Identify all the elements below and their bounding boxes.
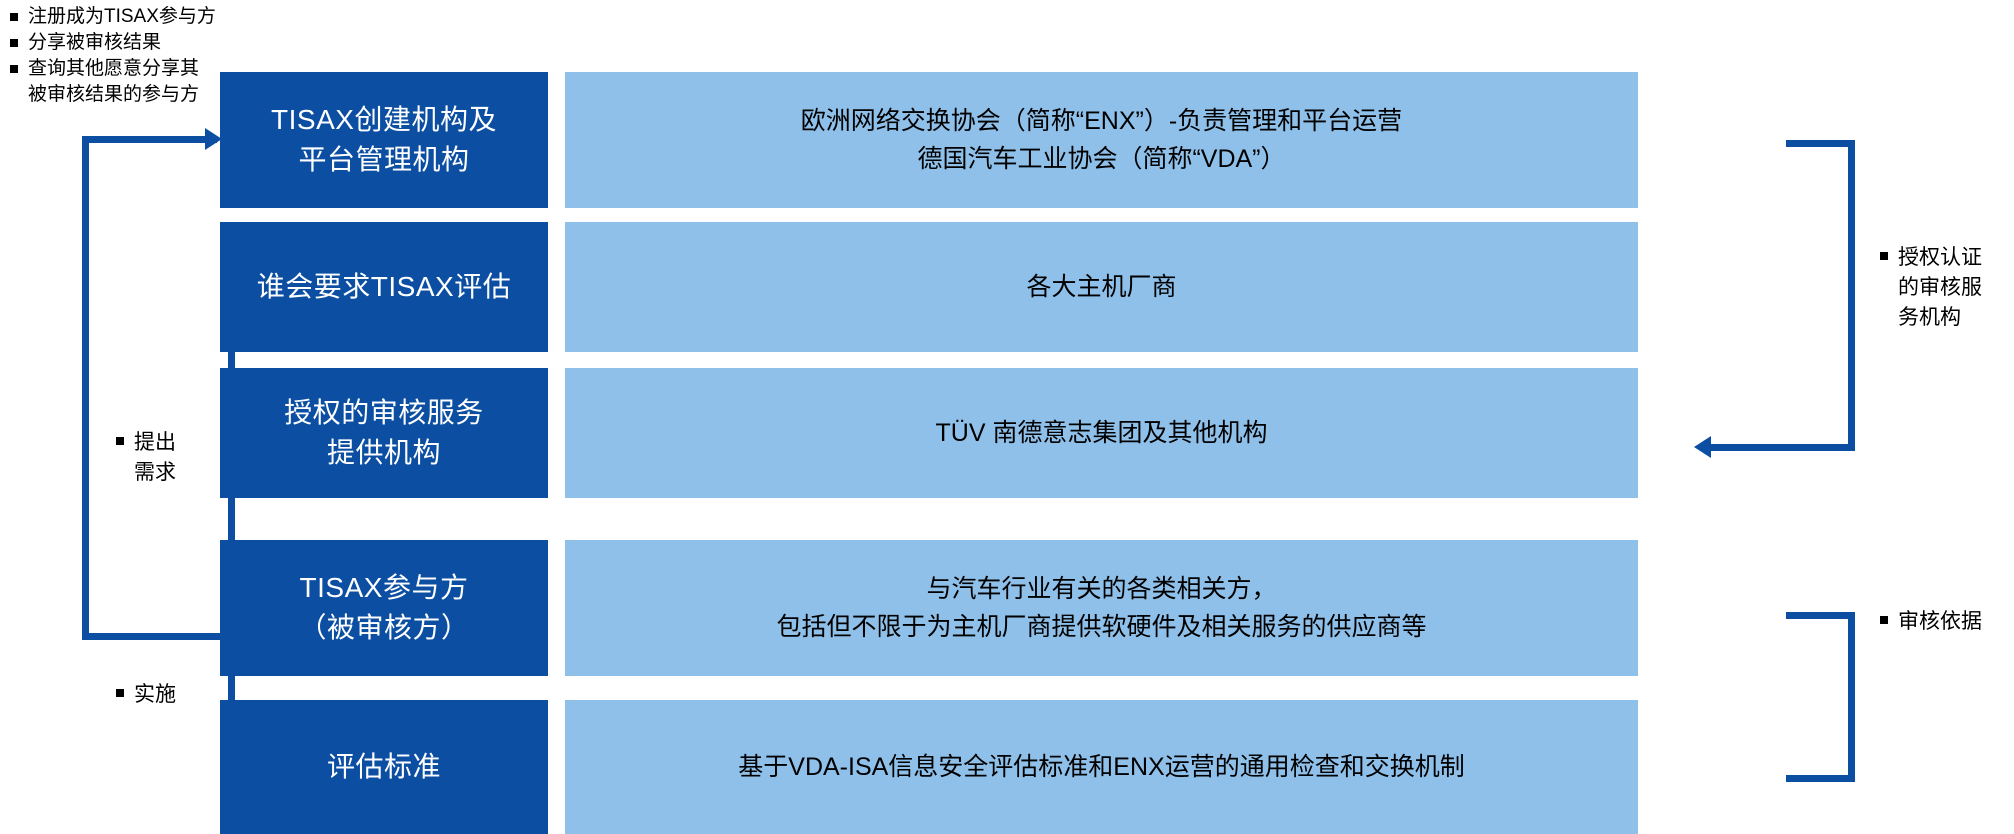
annotation-label: 实施 (134, 680, 176, 710)
list-item: 分享被审核结果 (10, 30, 220, 56)
row-4-label-box[interactable]: TISAX参与方 （被审核方） (220, 540, 548, 676)
list-item: 注册成为TISAX参与方 (10, 4, 220, 30)
bullet-square-icon (1880, 243, 1898, 260)
bullet-square-icon (10, 30, 28, 47)
list-item: 查询其他愿意分享其 被审核结果的参与方 (10, 56, 220, 108)
row-1-content-text: 欧洲网络交换协会（简称“ENX”）-负责管理和平台运营 德国汽车工业协会（简称“… (801, 102, 1402, 178)
bullet-label: 注册成为TISAX参与方 (28, 4, 216, 30)
list-item: 审核依据 (1880, 607, 2010, 637)
row-1-label-box[interactable]: TISAX创建机构及 平台管理机构 (220, 72, 548, 208)
bullet-square-icon (1880, 607, 1898, 624)
connector-outer-left-top-horizontal (82, 136, 217, 143)
connector-right-lower-top-horizontal (1786, 612, 1855, 619)
row-3-content-text: TÜV 南德意志集团及其他机构 (936, 414, 1268, 452)
row-2-label-box[interactable]: 谁会要求TISAX评估 (220, 222, 548, 352)
row-2-label-text: 谁会要求TISAX评估 (257, 267, 511, 307)
left-annotation-implement: 实施 (116, 680, 226, 710)
row-2-content-box[interactable]: 各大主机厂商 (565, 222, 1638, 352)
row-5-label-text: 评估标准 (327, 747, 441, 787)
bullet-square-icon (116, 428, 134, 445)
bullet-square-icon (10, 4, 28, 21)
bullet-square-icon (116, 680, 134, 697)
bullet-label: 分享被审核结果 (28, 30, 161, 56)
row-1-content-box[interactable]: 欧洲网络交换协会（简称“ENX”）-负责管理和平台运营 德国汽车工业协会（简称“… (565, 72, 1638, 208)
list-item: 提出 需求 (116, 428, 226, 488)
row-4-label-text: TISAX参与方 （被审核方） (298, 568, 469, 648)
arrow-into-row-3 (1694, 436, 1711, 458)
connector-outer-left-bottom-horizontal (82, 633, 228, 640)
annotation-label: 授权认证 的审核服 务机构 (1898, 243, 1982, 333)
row-3-content-box[interactable]: TÜV 南德意志集团及其他机构 (565, 368, 1638, 498)
row-4-content-text: 与汽车行业有关的各类相关方， 包括但不限于为主机厂商提供软硬件及相关服务的供应商… (776, 570, 1426, 646)
list-item: 授权认证 的审核服 务机构 (1880, 243, 2010, 333)
row-5-label-box[interactable]: 评估标准 (220, 700, 548, 834)
left-annotation-demand: 提出 需求 (116, 428, 226, 488)
diagram-canvas: 注册成为TISAX参与方 分享被审核结果 查询其他愿意分享其 被审核结果的参与方… (0, 0, 2014, 834)
connector-right-lower-vertical (1848, 612, 1855, 782)
connector-right-top-horizontal (1786, 140, 1855, 147)
row-5-content-text: 基于VDA-ISA信息安全评估标准和ENX运营的通用检查和交换机制 (738, 748, 1464, 786)
right-annotation-auditor: 授权认证 的审核服 务机构 (1880, 243, 2010, 333)
right-annotation-criteria: 审核依据 (1880, 607, 2010, 637)
row-2-content-text: 各大主机厂商 (1026, 268, 1176, 306)
bullet-label: 查询其他愿意分享其 被审核结果的参与方 (28, 56, 199, 108)
row-4-content-box[interactable]: 与汽车行业有关的各类相关方， 包括但不限于为主机厂商提供软硬件及相关服务的供应商… (565, 540, 1638, 676)
annotation-label: 提出 需求 (134, 428, 176, 488)
connector-right-vertical (1848, 140, 1855, 450)
top-left-bullet-list: 注册成为TISAX参与方 分享被审核结果 查询其他愿意分享其 被审核结果的参与方 (10, 4, 220, 108)
connector-right-lower-bottom-horizontal (1786, 775, 1855, 782)
row-3-label-box[interactable]: 授权的审核服务 提供机构 (220, 368, 548, 498)
connector-outer-left-vertical (82, 136, 89, 640)
list-item: 实施 (116, 680, 226, 710)
connector-right-bottom-horizontal (1710, 444, 1855, 451)
row-3-label-text: 授权的审核服务 提供机构 (284, 393, 484, 473)
bullet-square-icon (10, 56, 28, 73)
annotation-label: 审核依据 (1898, 607, 1982, 637)
row-1-label-text: TISAX创建机构及 平台管理机构 (271, 100, 497, 180)
row-5-content-box[interactable]: 基于VDA-ISA信息安全评估标准和ENX运营的通用检查和交换机制 (565, 700, 1638, 834)
